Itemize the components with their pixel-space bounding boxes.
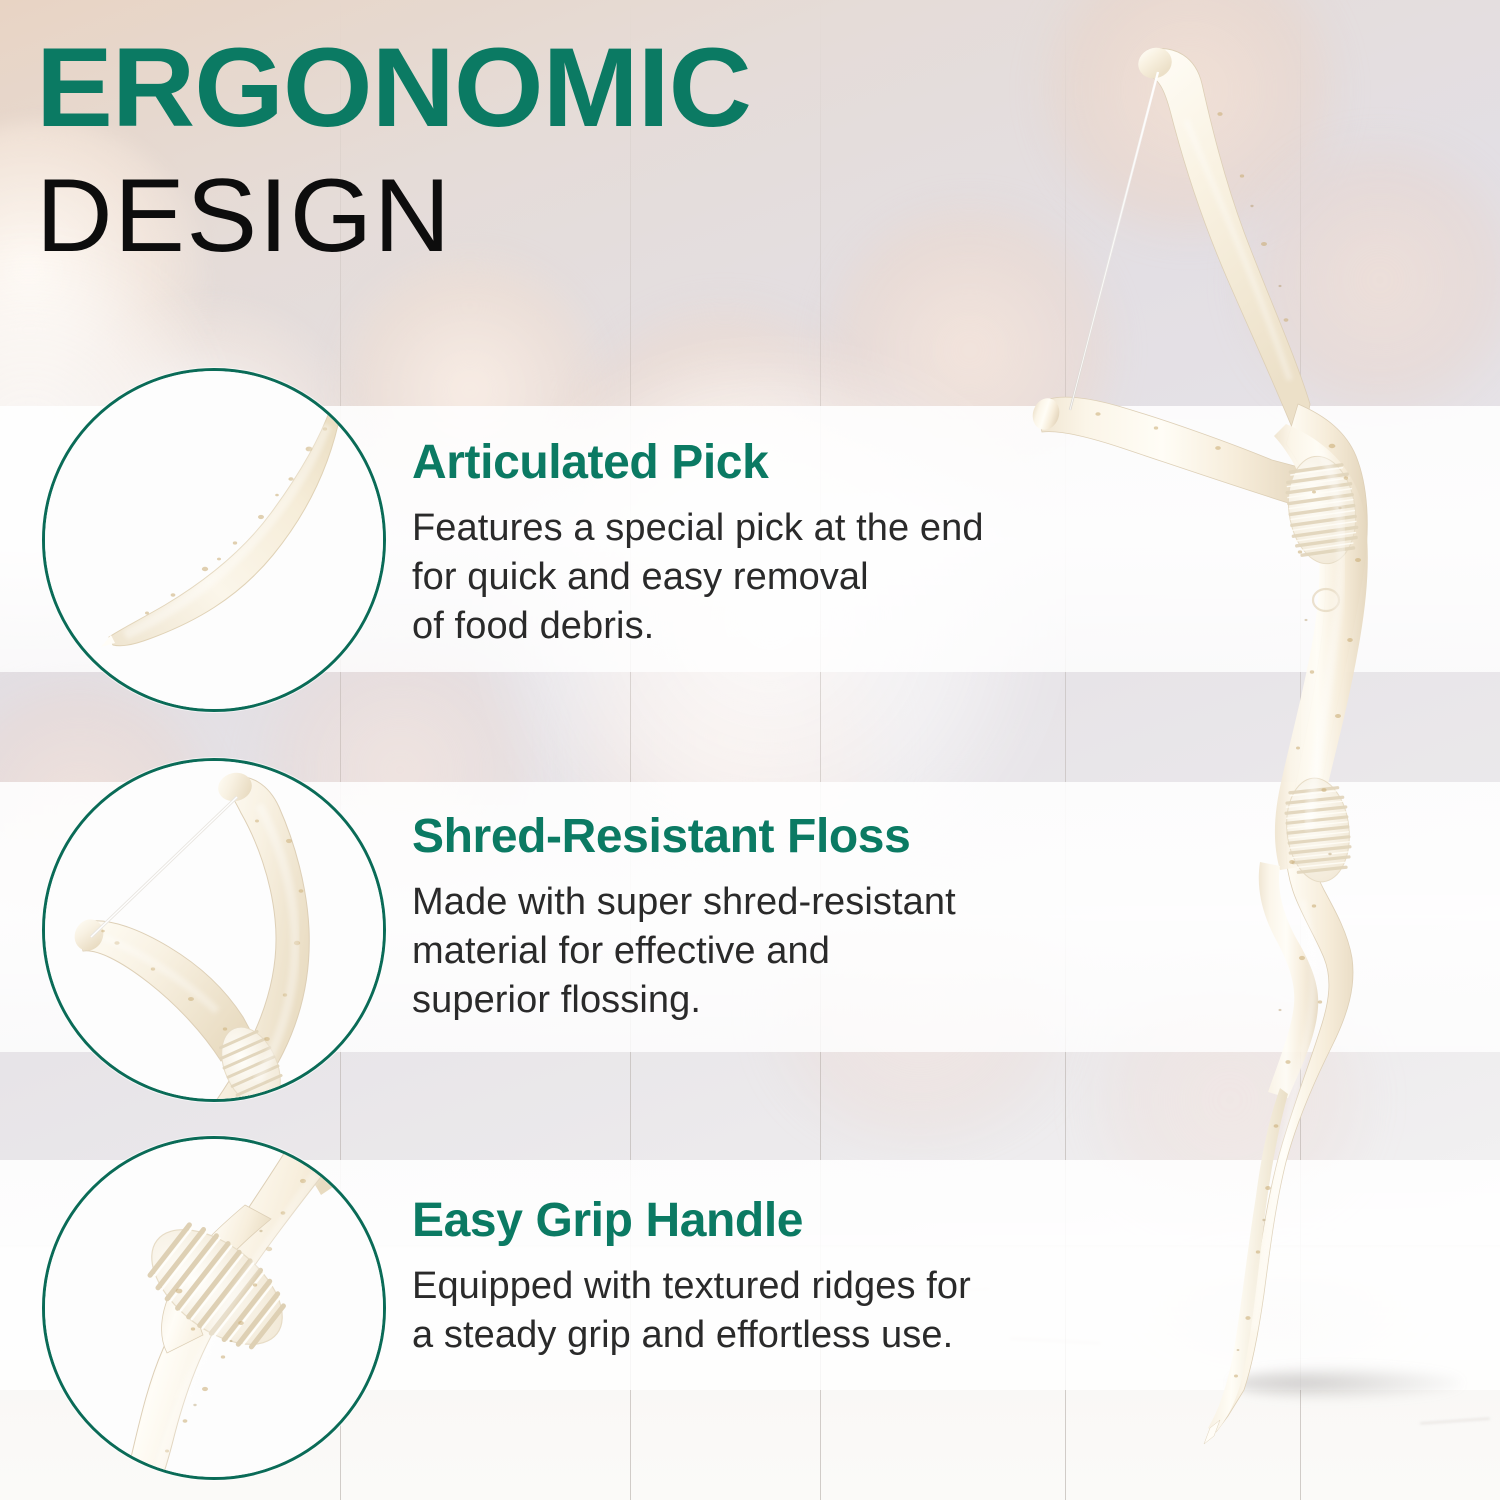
callout-circle-articulated-pick <box>42 368 386 712</box>
callout-circle-shred-resistant-floss <box>42 758 386 1102</box>
feature-heading: Shred-Resistant Floss <box>412 812 956 862</box>
feature-body-line: Equipped with textured ridges for <box>412 1262 971 1311</box>
ridged-grip-closeup-icon <box>45 1139 383 1477</box>
feature-body: Made with super shred-resistant material… <box>412 878 956 1024</box>
product-floss-pick <box>980 0 1500 1500</box>
feature-body-line: superior flossing. <box>412 976 956 1025</box>
callout-circle-easy-grip-handle <box>42 1136 386 1480</box>
floss-strand-closeup-icon <box>45 761 383 1099</box>
page-title: ERGONOMIC DESIGN <box>36 34 730 268</box>
pick-tip-closeup-icon <box>45 371 383 709</box>
feature-body: Features a special pick at the end for q… <box>412 504 984 650</box>
title-line-secondary: DESIGN <box>36 164 744 268</box>
feature-body-line: Made with super shred-resistant <box>412 878 956 927</box>
title-line-primary: ERGONOMIC <box>36 34 751 142</box>
feature-heading: Easy Grip Handle <box>412 1196 971 1246</box>
infographic-canvas: ERGONOMIC DESIGN <box>0 0 1500 1500</box>
feature-body-line: a steady grip and effortless use. <box>412 1311 971 1360</box>
feature-body-line: material for effective and <box>412 927 956 976</box>
feature-heading: Articulated Pick <box>412 438 984 488</box>
feature-text: Shred-Resistant Floss Made with super sh… <box>412 812 956 1024</box>
feature-text: Easy Grip Handle Equipped with textured … <box>412 1196 971 1360</box>
feature-body-line: of food debris. <box>412 602 984 651</box>
feature-body-line: Features a special pick at the end <box>412 504 984 553</box>
feature-body-line: for quick and easy removal <box>412 553 984 602</box>
feature-body: Equipped with textured ridges for a stea… <box>412 1262 971 1359</box>
feature-text: Articulated Pick Features a special pick… <box>412 438 984 650</box>
